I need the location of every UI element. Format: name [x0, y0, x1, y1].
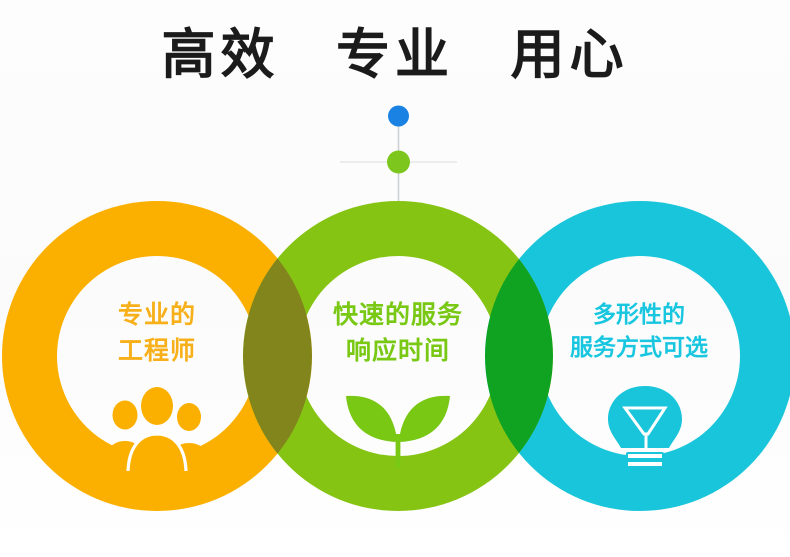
ring-label-service-modes-line-1: 多形性的 — [534, 298, 744, 331]
infographic-canvas: 高效 专业 用心 — [0, 0, 790, 557]
overlap-green-cyan — [0, 0, 790, 557]
ring-label-response-time: 快速的服务 响应时间 — [293, 298, 503, 369]
lightbulb-icon — [590, 384, 700, 470]
venn-diagram — [0, 0, 790, 557]
ring-label-response-time-line-2: 响应时间 — [293, 334, 503, 370]
team-people-icon — [102, 385, 212, 471]
ring-label-engineers: 专业的 工程师 — [52, 298, 262, 369]
ring-label-response-time-line-1: 快速的服务 — [293, 298, 503, 334]
ring-label-engineers-line-1: 专业的 — [52, 298, 262, 334]
ring-label-engineers-line-2: 工程师 — [52, 334, 262, 370]
sprout-plant-icon — [343, 382, 453, 468]
ring-label-service-modes-line-2: 服务方式可选 — [534, 331, 744, 364]
ring-label-service-modes: 多形性的 服务方式可选 — [534, 298, 744, 363]
